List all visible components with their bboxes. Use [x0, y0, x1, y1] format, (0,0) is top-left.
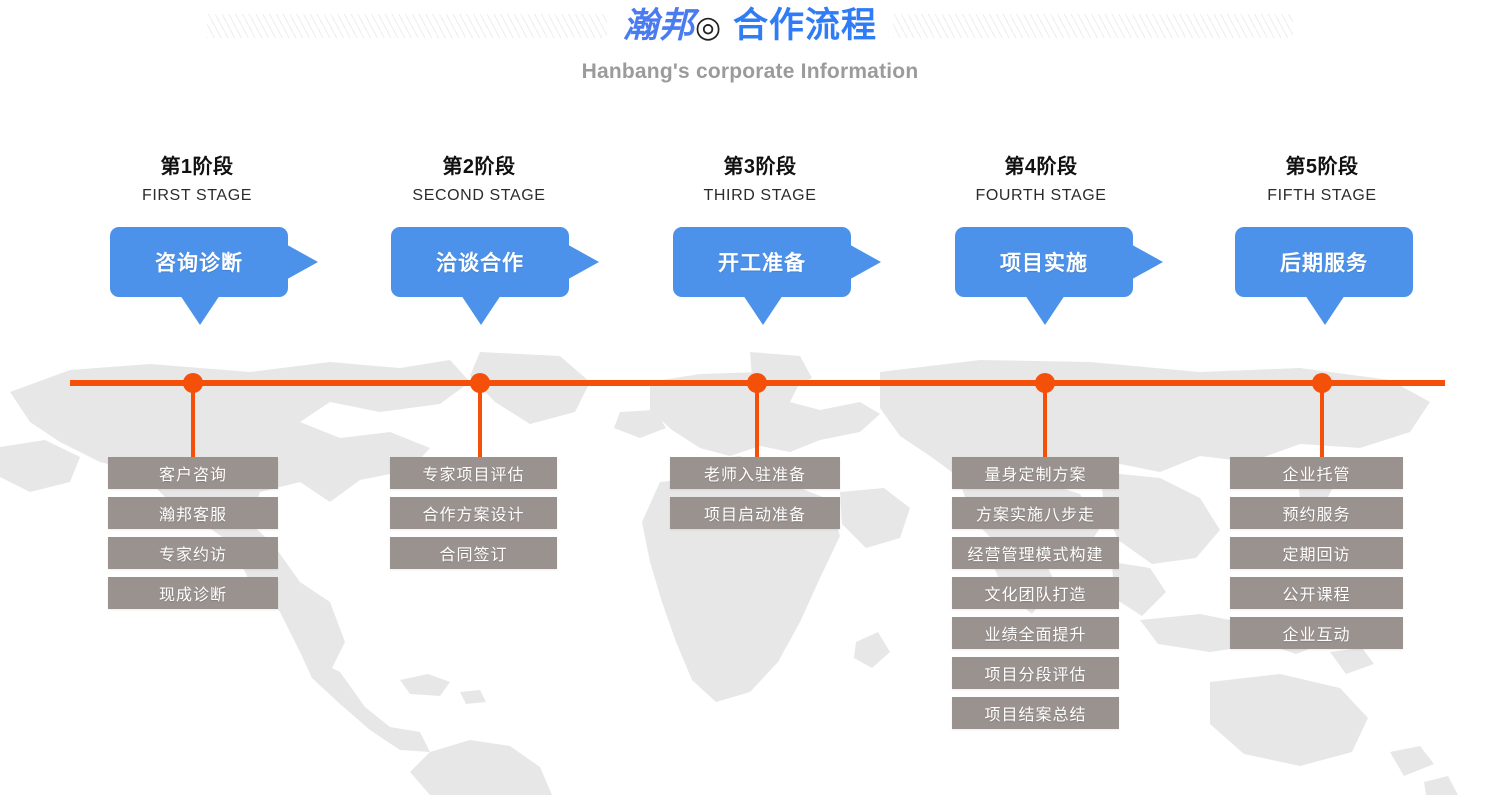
bubble-pointer-icon	[1305, 295, 1345, 325]
stage-column-2: 第2阶段SECOND STAGE洽谈合作	[364, 155, 594, 327]
stage-bubble-3[interactable]: 开工准备	[673, 227, 851, 297]
timeline-stem-4	[1043, 383, 1047, 457]
stage-header-2: 第2阶段SECOND STAGE	[364, 155, 594, 205]
bubble-pointer-icon	[180, 295, 220, 325]
timeline-dot-icon-2[interactable]	[470, 373, 490, 393]
timeline-dot-icon-5[interactable]	[1312, 373, 1332, 393]
stage-item[interactable]: 方案实施八步走	[952, 497, 1119, 529]
stage-title-en: FIRST STAGE	[82, 186, 312, 205]
stage-bubble-wrap-2: 洽谈合作	[391, 227, 594, 327]
stage-item[interactable]: 预约服务	[1230, 497, 1403, 529]
stage-item[interactable]: 公开课程	[1230, 577, 1403, 609]
title-brand: 瀚邦	[623, 6, 695, 46]
stage-title-en: FIFTH STAGE	[1207, 186, 1437, 205]
stage-item[interactable]: 专家项目评估	[390, 457, 557, 489]
timeline-dot-icon-1[interactable]	[183, 373, 203, 393]
stage-item[interactable]: 项目结案总结	[952, 697, 1119, 729]
stage-header-5: 第5阶段FIFTH STAGE	[1207, 155, 1437, 205]
bubble-pointer-icon	[461, 295, 501, 325]
stage-item[interactable]: 老师入驻准备	[670, 457, 840, 489]
stage-item[interactable]: 企业托管	[1230, 457, 1403, 489]
stage-bubble-wrap-5: 后期服务	[1235, 227, 1437, 327]
timeline-stem-3	[755, 383, 759, 457]
stage-item[interactable]: 现成诊断	[108, 577, 278, 609]
stage-bubble-label: 项目实施	[1000, 247, 1088, 277]
stage-header-4: 第4阶段FOURTH STAGE	[926, 155, 1156, 205]
stage-column-5: 第5阶段FIFTH STAGE后期服务	[1207, 155, 1437, 327]
hatch-decoration-left	[207, 14, 607, 38]
stage-item[interactable]: 合作方案设计	[390, 497, 557, 529]
stage-bubble-2[interactable]: 洽谈合作	[391, 227, 569, 297]
stage-item-list-1: 客户咨询瀚邦客服专家约访现成诊断	[108, 457, 278, 617]
timeline-dot-icon-3[interactable]	[747, 373, 767, 393]
stage-column-1: 第1阶段FIRST STAGE咨询诊断	[82, 155, 312, 327]
stage-item[interactable]: 瀚邦客服	[108, 497, 278, 529]
stage-title-cn: 第4阶段	[926, 155, 1156, 180]
stage-bubble-label: 开工准备	[718, 247, 806, 277]
page-title: 瀚邦◎ 合作流程	[623, 8, 877, 44]
stage-column-3: 第3阶段THIRD STAGE开工准备	[645, 155, 875, 327]
stage-item[interactable]: 量身定制方案	[952, 457, 1119, 489]
stage-title-cn: 第3阶段	[645, 155, 875, 180]
stage-bubble-label: 咨询诊断	[155, 247, 243, 277]
stage-item-list-4: 量身定制方案方案实施八步走经营管理模式构建文化团队打造业绩全面提升项目分段评估项…	[952, 457, 1119, 737]
stage-bubble-4[interactable]: 项目实施	[955, 227, 1133, 297]
stage-title-en: SECOND STAGE	[364, 186, 594, 205]
stage-bubble-wrap-1: 咨询诊断	[110, 227, 312, 327]
bubble-pointer-icon	[743, 295, 783, 325]
stage-header-1: 第1阶段FIRST STAGE	[82, 155, 312, 205]
stage-bubble-1[interactable]: 咨询诊断	[110, 227, 288, 297]
title-mark-icon: ◎	[695, 11, 722, 44]
stage-item[interactable]: 经营管理模式构建	[952, 537, 1119, 569]
stage-item[interactable]: 业绩全面提升	[952, 617, 1119, 649]
bubble-next-arrow-icon	[845, 242, 881, 282]
title-main: 合作流程	[733, 6, 877, 45]
stage-title-en: FOURTH STAGE	[926, 186, 1156, 205]
timeline-stem-1	[191, 383, 195, 457]
stage-item[interactable]: 项目启动准备	[670, 497, 840, 529]
timeline-stem-2	[478, 383, 482, 457]
timeline-stem-5	[1320, 383, 1324, 457]
hatch-decoration-right	[893, 14, 1293, 38]
stage-bubble-label: 后期服务	[1280, 247, 1368, 277]
stage-title-cn: 第5阶段	[1207, 155, 1437, 180]
stage-bubble-label: 洽谈合作	[436, 247, 524, 277]
bubble-next-arrow-icon	[1127, 242, 1163, 282]
stage-item[interactable]: 合同签订	[390, 537, 557, 569]
stage-bubble-wrap-4: 项目实施	[955, 227, 1156, 327]
stage-item-list-2: 专家项目评估合作方案设计合同签订	[390, 457, 557, 577]
stage-item-list-5: 企业托管预约服务定期回访公开课程企业互动	[1230, 457, 1403, 657]
stage-item[interactable]: 文化团队打造	[952, 577, 1119, 609]
bubble-next-arrow-icon	[563, 242, 599, 282]
stage-item[interactable]: 客户咨询	[108, 457, 278, 489]
bubble-next-arrow-icon	[282, 242, 318, 282]
bubble-pointer-icon	[1025, 295, 1065, 325]
stage-item[interactable]: 项目分段评估	[952, 657, 1119, 689]
stage-bubble-5[interactable]: 后期服务	[1235, 227, 1413, 297]
timeline-dot-icon-4[interactable]	[1035, 373, 1055, 393]
page-header: 瀚邦◎ 合作流程 Hanbang's corporate Information	[0, 0, 1500, 110]
stage-item[interactable]: 定期回访	[1230, 537, 1403, 569]
stage-item[interactable]: 企业互动	[1230, 617, 1403, 649]
stage-title-cn: 第2阶段	[364, 155, 594, 180]
stage-header-3: 第3阶段THIRD STAGE	[645, 155, 875, 205]
page-subtitle: Hanbang's corporate Information	[0, 60, 1500, 84]
stage-bubble-wrap-3: 开工准备	[673, 227, 875, 327]
stage-item[interactable]: 专家约访	[108, 537, 278, 569]
stage-column-4: 第4阶段FOURTH STAGE项目实施	[926, 155, 1156, 327]
stage-title-cn: 第1阶段	[82, 155, 312, 180]
stage-item-list-3: 老师入驻准备项目启动准备	[670, 457, 840, 537]
stage-title-en: THIRD STAGE	[645, 186, 875, 205]
title-row: 瀚邦◎ 合作流程	[0, 8, 1500, 44]
